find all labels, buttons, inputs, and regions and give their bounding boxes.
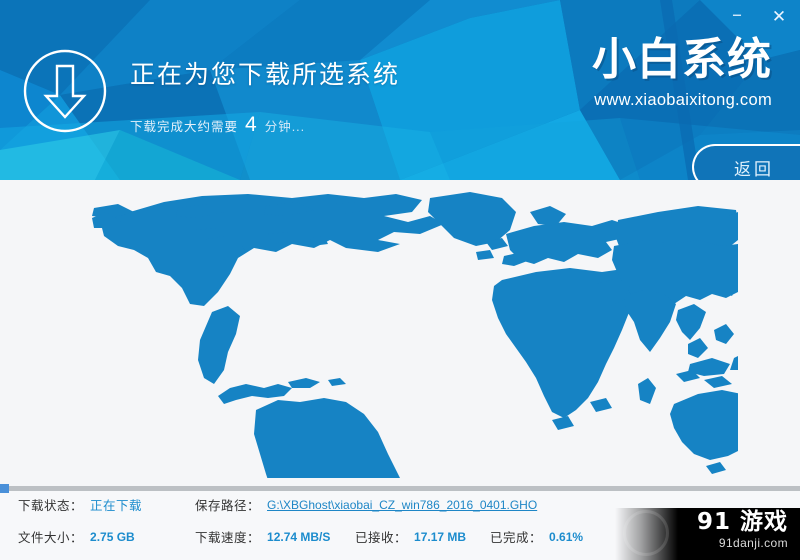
minimize-button[interactable]: – bbox=[724, 4, 750, 30]
window-controls: – ✕ bbox=[724, 4, 792, 30]
watermark-text: 91 游戏 91danji.com bbox=[697, 510, 788, 550]
eta-suffix: 分钟... bbox=[265, 116, 305, 135]
app-header: – ✕ 正在为您下载所选系统 下载完成大约需要 4 分钟... 小白系统 www… bbox=[0, 0, 800, 180]
world-map-silhouette bbox=[78, 188, 738, 478]
brand-url: www.xiaobaixitong.com bbox=[592, 91, 772, 110]
field-value: 17.17 MB bbox=[414, 530, 466, 544]
field-received: 已接收： 17.17 MB bbox=[355, 527, 466, 546]
brand-name: 小白系统 bbox=[592, 38, 772, 82]
field-completed-percent: 已完成： 0.61% bbox=[490, 527, 583, 546]
eta-minutes: 4 bbox=[243, 113, 260, 137]
watermark-ghost-circle bbox=[623, 510, 669, 556]
field-label: 文件大小： bbox=[18, 527, 83, 546]
watermark-domain: 91danji.com bbox=[697, 536, 788, 550]
section-divider bbox=[0, 486, 800, 491]
close-button[interactable]: ✕ bbox=[766, 4, 792, 30]
field-label: 保存路径： bbox=[195, 495, 260, 514]
field-file-size: 文件大小： 2.75 GB bbox=[18, 527, 135, 546]
divider-marker bbox=[0, 484, 9, 493]
eta-text: 下载完成大约需要 4 分钟... bbox=[130, 113, 400, 137]
return-button[interactable]: 返回 bbox=[692, 144, 800, 180]
download-arrow-circle-icon bbox=[22, 48, 108, 134]
eta-prefix: 下载完成大约需要 bbox=[130, 116, 238, 135]
field-label: 下载速度： bbox=[195, 527, 260, 546]
brand-logo: 小白系统 www.xiaobaixitong.com bbox=[592, 38, 772, 110]
watermark-overlay: 91 游戏 91danji.com bbox=[615, 508, 800, 560]
field-value: 0.61% bbox=[549, 530, 583, 544]
save-path-link[interactable]: G:\XBGhost\xiaobai_CZ_win786_2016_0401.G… bbox=[267, 498, 537, 512]
field-value: 2.75 GB bbox=[90, 530, 135, 544]
field-value: 正在下载 bbox=[90, 495, 142, 514]
watermark-brand: 91 游戏 bbox=[697, 510, 788, 535]
field-save-path: 保存路径： G:\XBGhost\xiaobai_CZ_win786_2016_… bbox=[195, 495, 537, 514]
world-map-panel bbox=[0, 180, 800, 486]
page-title: 正在为您下载所选系统 bbox=[130, 55, 400, 91]
field-value: 12.74 MB/S bbox=[267, 530, 330, 544]
field-download-speed: 下载速度： 12.74 MB/S bbox=[195, 527, 330, 546]
field-label: 下载状态： bbox=[18, 495, 83, 514]
field-download-state: 下载状态： 正在下载 bbox=[18, 495, 142, 514]
field-label: 已接收： bbox=[355, 527, 407, 546]
field-label: 已完成： bbox=[490, 527, 542, 546]
header-title-block: 正在为您下载所选系统 下载完成大约需要 4 分钟... bbox=[130, 55, 400, 137]
